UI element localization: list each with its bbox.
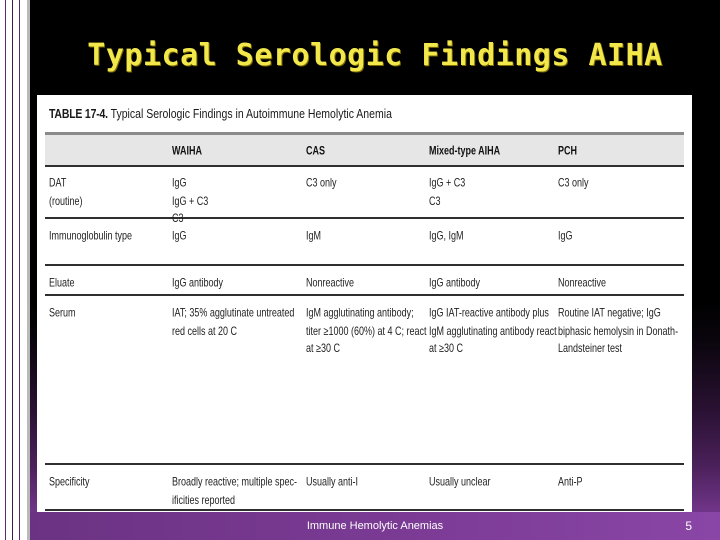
- row-label-dat: DAT(routine): [49, 175, 177, 210]
- table-caption-text: Typical Serologic Findings in Autoimmune…: [111, 107, 392, 122]
- cell-dat-cas: C3 only: [306, 175, 431, 193]
- table-caption-label: TABLE 17-4.: [49, 107, 108, 122]
- cell-dat-pch: C3 only: [558, 175, 683, 193]
- cell-serum-mixed: IgG IAT-reactive antibody plus IgM agglu…: [429, 305, 559, 358]
- column-header-waiha: WAIHA: [172, 143, 300, 161]
- cell-igtype-mixed: IgG, IgM: [429, 228, 559, 246]
- column-header-pch: PCH: [558, 143, 683, 161]
- cell-specificity-cas: Usually anti-I: [306, 474, 431, 492]
- cell-specificity-pch: Anti-P: [558, 474, 683, 492]
- table-rule-after-eluate: [45, 294, 684, 296]
- cell-eluate-mixed: IgG antibody: [429, 275, 559, 293]
- cell-igtype-cas: IgM: [306, 228, 431, 246]
- cell-serum-pch: Routine IAT negative; IgG biphasic hemol…: [558, 305, 683, 358]
- left-accent-line-1: [5, 0, 6, 540]
- footer-title: Immune Hemolytic Anemias: [30, 512, 720, 540]
- row-label-serum: Serum: [49, 305, 177, 323]
- row-label-specificity: Specificity: [49, 474, 177, 492]
- cell-igtype-pch: IgG: [558, 228, 683, 246]
- cell-eluate-pch: Nonreactive: [558, 275, 683, 293]
- left-accent-line-2: [12, 0, 13, 540]
- column-header-cas: CAS: [306, 143, 431, 161]
- table-rule-after-igtype: [45, 264, 684, 266]
- table-rule-bottom: [45, 509, 684, 511]
- cell-specificity-waiha: Broadly reactive; multiple spec-ificitie…: [172, 474, 300, 509]
- left-gray-stripe: [27, 0, 30, 540]
- cell-eluate-cas: Nonreactive: [306, 275, 431, 293]
- cell-igtype-waiha: IgG: [172, 228, 300, 246]
- column-header-mixed: Mixed-type AIHA: [429, 143, 559, 161]
- table-rule-after-dat: [45, 217, 684, 219]
- cell-specificity-mixed: Usually unclear: [429, 474, 559, 492]
- cell-dat-waiha: IgGIgG + C3C3: [172, 175, 300, 228]
- cell-serum-cas: IgM agglutinating antibody; titer ≥1000 …: [306, 305, 431, 358]
- cell-serum-waiha: IAT; 35% agglutinate untreated red cells…: [172, 305, 300, 340]
- table-rule-header-bottom: [45, 165, 684, 167]
- serologic-findings-table: TABLE 17-4. Typical Serologic Findings i…: [37, 95, 692, 512]
- row-label-immunoglobulin-type: Immunoglobulin type: [49, 228, 177, 246]
- table-rule-after-serum: [45, 463, 684, 465]
- slide-title: Typical Serologic Findings AIHA: [30, 38, 720, 73]
- slide-footer: Immune Hemolytic Anemias 5: [30, 512, 720, 540]
- slide: Typical Serologic Findings AIHA TABLE 17…: [0, 0, 720, 540]
- table-caption: TABLE 17-4. Typical Serologic Findings i…: [49, 107, 392, 122]
- row-label-eluate: Eluate: [49, 275, 177, 293]
- slide-number: 5: [685, 512, 692, 540]
- cell-dat-mixed: IgG + C3C3: [429, 175, 559, 210]
- cell-eluate-waiha: IgG antibody: [172, 275, 300, 293]
- left-accent-line-3: [19, 0, 20, 540]
